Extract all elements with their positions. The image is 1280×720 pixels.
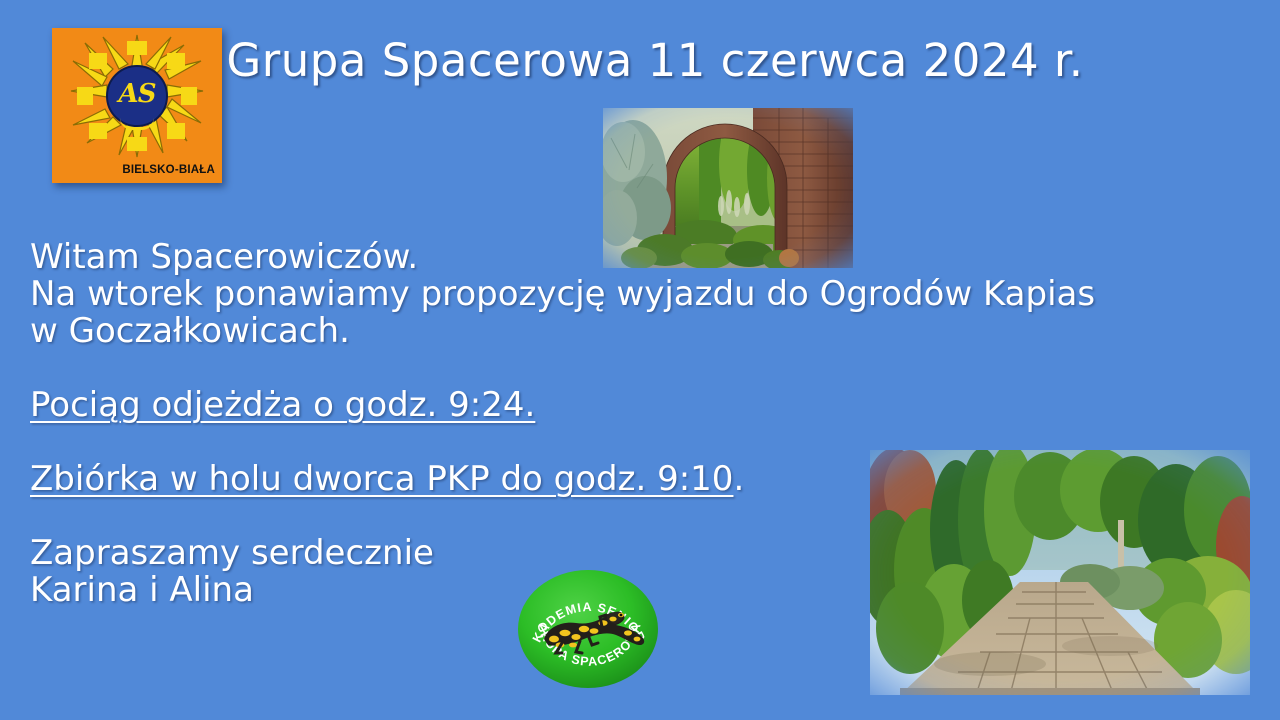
garden-path-illustration <box>870 450 1250 695</box>
text-line-proposal: Na wtorek ponawiamy propozycję wyjazdu d… <box>30 276 1210 313</box>
text-line-location: w Goczałkowicach. <box>30 313 1210 350</box>
grupa-spacerowa-badge: AKADEMIA SENIORA GRUPA SPACEROWA <box>518 569 659 689</box>
text-line-train-departure: Pociąg odjeżdża o godz. 9:24. <box>30 387 1210 424</box>
akademia-seniora-logo: AS BIELSKO-BIAŁA <box>52 28 222 183</box>
grupa-spacerowa-emblem: AKADEMIA SENIORA GRUPA SPACEROWA <box>518 569 659 689</box>
garden-arch-illustration <box>603 108 853 268</box>
text-line-meeting-point-period: . <box>733 459 744 499</box>
garden-brick-arch-photo <box>603 108 853 268</box>
logo-city-label: BIELSKO-BIAŁA <box>122 164 215 176</box>
as-monogram-letters: AS <box>119 81 156 107</box>
text-line-meeting-point-underlined: Zbiórka w holu dworca PKP do godz. 9:10 <box>30 459 733 499</box>
garden-stone-path-photo <box>870 450 1250 695</box>
slide-canvas: Grupa Spacerowa 11 czerwca 2024 r. <box>0 0 1280 720</box>
